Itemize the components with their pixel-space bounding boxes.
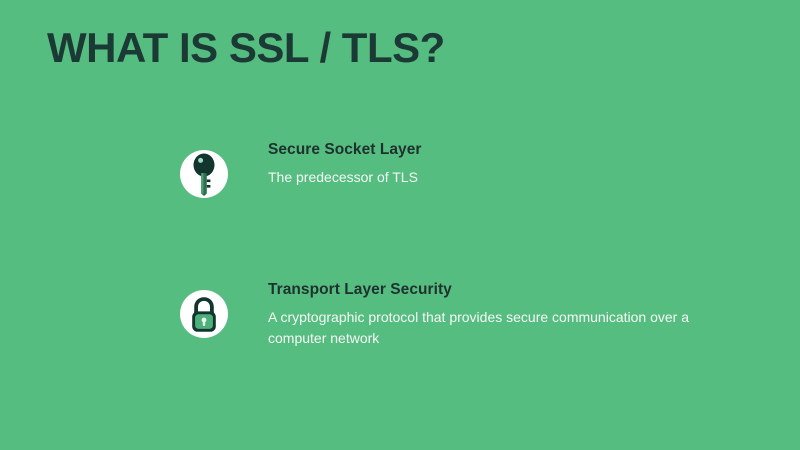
padlock-icon (187, 294, 221, 334)
feature-heading: Transport Layer Security (268, 280, 738, 300)
list-item: Transport Layer Security A cryptographic… (0, 280, 800, 349)
list-item: Secure Socket Layer The predecessor of T… (0, 140, 800, 198)
feature-description: A cryptographic protocol that provides s… (268, 307, 738, 349)
slide-canvas: WHAT IS SSL / TLS? Secure Sock (0, 0, 800, 450)
feature-text: Secure Socket Layer The predecessor of T… (228, 140, 738, 188)
feature-text: Transport Layer Security A cryptographic… (228, 280, 738, 349)
feature-list: Secure Socket Layer The predecessor of T… (0, 140, 800, 349)
page-title: WHAT IS SSL / TLS? (47, 24, 445, 72)
icon-badge (180, 150, 228, 198)
feature-heading: Secure Socket Layer (268, 140, 738, 160)
icon-badge (180, 290, 228, 338)
key-icon (187, 152, 221, 196)
feature-description: The predecessor of TLS (268, 167, 738, 188)
